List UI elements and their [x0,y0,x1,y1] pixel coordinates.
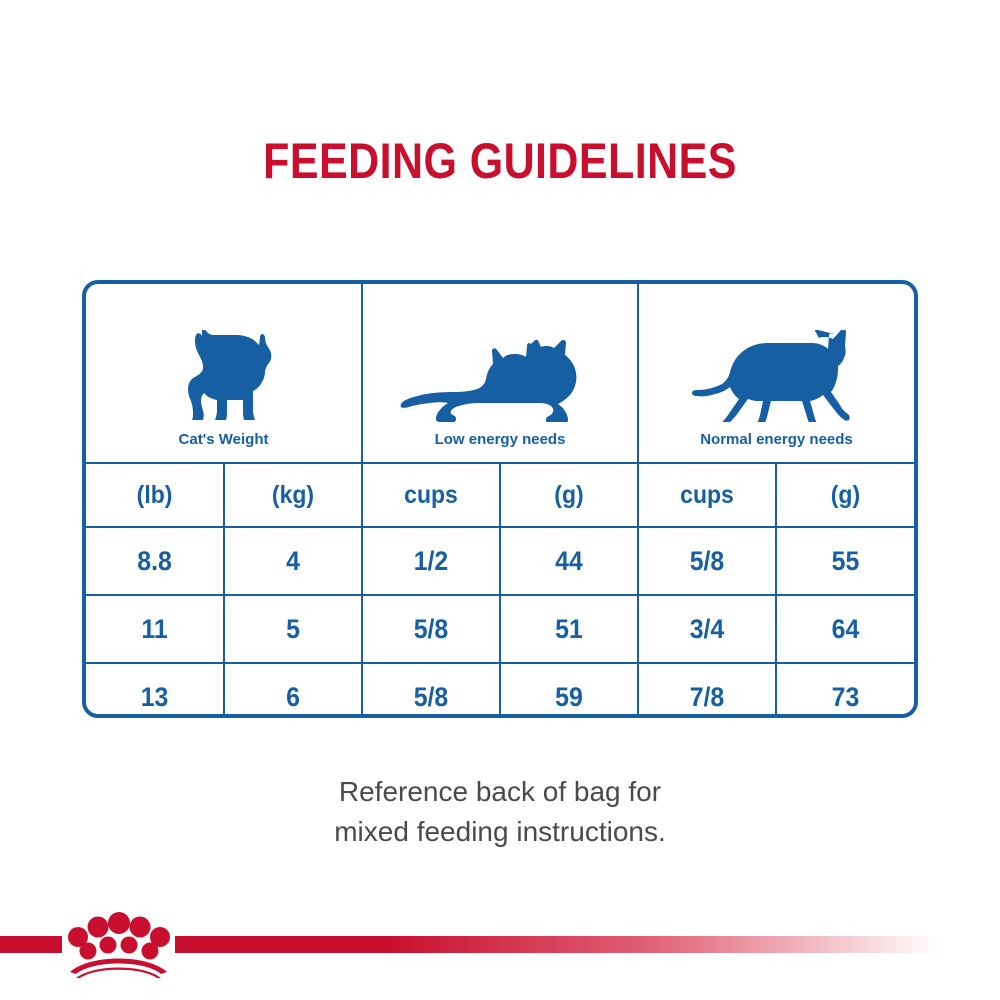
table-cell: 8.8 [92,527,219,595]
group-header-label: Low energy needs [435,431,566,448]
group-header-cat-weight: Cat's Weight [86,284,362,463]
unit-header-cell: (g) [506,463,633,527]
table-row: 11 5 5/8 51 3/4 64 [86,595,914,663]
unit-header-cell: cups [644,463,771,527]
unit-header-cell: (g) [782,463,909,527]
table-cell: 55 [782,527,909,595]
page-title: FEEDING GUIDELINES [70,132,930,190]
table-group-header-row: Cat's Weight Low energy needs [86,284,914,463]
table-cell: 11 [92,595,219,663]
footer-note: Reference back of bag for mixed feeding … [0,772,1000,852]
brand-bar [0,936,1000,953]
table-row: 13 6 5/8 59 7/8 73 [86,663,914,718]
cat-lying-icon [400,340,600,422]
footer-note-line: Reference back of bag for [0,772,1000,812]
table-cell: 73 [782,663,909,718]
table-cell: 5/8 [368,595,495,663]
unit-header-cell: (lb) [92,463,219,527]
footer-note-line: mixed feeding instructions. [0,812,1000,852]
table-cell: 44 [506,527,633,595]
unit-header-cell: (kg) [230,463,357,527]
brand-rule-right [175,936,940,953]
table-unit-header-row: (lb) (kg) cups (g) cups (g) [86,463,914,527]
royal-canin-crown-icon [62,906,175,978]
brand-rule-left [0,936,62,953]
table-cell: 64 [782,595,909,663]
table-cell: 59 [506,663,633,718]
table-cell: 6 [230,663,357,718]
table-cell: 5/8 [644,527,771,595]
unit-header-cell: cups [368,463,495,527]
table-cell: 13 [92,663,219,718]
group-header-normal-energy: Normal energy needs [638,284,914,463]
table-cell: 51 [506,595,633,663]
table-row: 8.8 4 1/2 44 5/8 55 [86,527,914,595]
feeding-guidelines-table: Cat's Weight Low energy needs [82,280,918,718]
group-header-label: Cat's Weight [179,431,269,448]
table-cell: 5 [230,595,357,663]
table-cell: 4 [230,527,357,595]
group-header-label: Normal energy needs [700,431,853,448]
table-cell: 1/2 [368,527,495,595]
group-header-low-energy: Low energy needs [362,284,638,463]
table-cell: 7/8 [644,663,771,718]
cat-walking-icon [682,330,872,422]
table-cell: 5/8 [368,663,495,718]
table-cell: 3/4 [644,595,771,663]
cat-standing-icon [168,330,280,422]
